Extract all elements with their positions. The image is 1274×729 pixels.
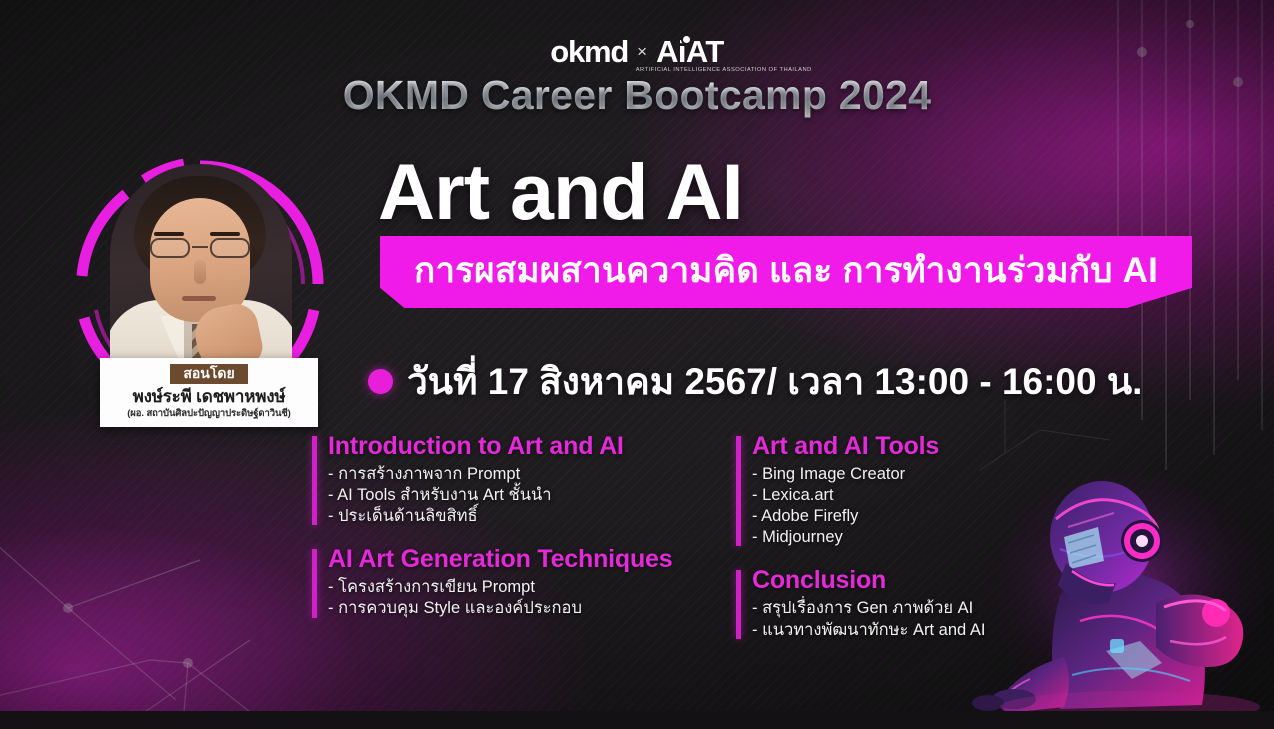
promo-banner: okmd × AiAT ARTIFICIAL INTELLIGENCE ASSO… bbox=[0, 0, 1274, 729]
section-accent-bar bbox=[312, 549, 317, 617]
logo-separator-icon: × bbox=[637, 42, 647, 62]
section-accent-bar bbox=[736, 436, 741, 546]
bullet-dot-icon bbox=[368, 369, 393, 394]
speaker-block: สอนโดย พงษ์ระพี เดชพาหพงษ์ (ผอ. สถาบันศิ… bbox=[62, 150, 337, 412]
topics-column-left: Introduction to Art and AI - การสร้างภาพ… bbox=[312, 432, 732, 620]
hero-title: Art and AI bbox=[378, 152, 743, 231]
okmd-logo: okmd bbox=[550, 36, 628, 67]
brand-logo-row: okmd × AiAT ARTIFICIAL INTELLIGENCE ASSO… bbox=[0, 36, 1274, 67]
speaker-badge: สอนโดย bbox=[170, 364, 247, 384]
list-item: - ประเด็นด้านลิขสิทธิ์ bbox=[328, 506, 732, 527]
event-title: OKMD Career Bootcamp 2024 bbox=[0, 72, 1274, 119]
hero-subtitle-banner: การผสมผสานความคิด และ การทำงานร่วมกับ AI bbox=[380, 236, 1192, 308]
robot-illustration bbox=[960, 445, 1274, 715]
list-item: - การควบคุม Style และองค์ประกอบ bbox=[328, 598, 732, 619]
section-list: - โครงสร้างการเขียน Prompt - การควบคุม S… bbox=[328, 577, 732, 619]
topic-section: Introduction to Art and AI - การสร้างภาพ… bbox=[312, 432, 732, 527]
hero-subtitle-text: การผสมผสานความคิด และ การทำงานร่วมกับ AI bbox=[414, 253, 1158, 292]
section-title: AI Art Generation Techniques bbox=[328, 545, 732, 573]
speaker-name-card: สอนโดย พงษ์ระพี เดชพาหพงษ์ (ผอ. สถาบันศิ… bbox=[100, 358, 318, 427]
event-date-text: วันที่ 17 สิงหาคม 2567/ เวลา 13:00 - 16:… bbox=[407, 352, 1142, 411]
section-accent-bar bbox=[736, 570, 741, 638]
aiat-logo-wrap: AiAT ARTIFICIAL INTELLIGENCE ASSOCIATION… bbox=[656, 36, 724, 67]
bottom-bar bbox=[0, 711, 1274, 729]
speaker-name: พงษ์ระพี เดชพาหพงษ์ bbox=[108, 387, 310, 407]
section-list: - การสร้างภาพจาก Prompt - AI Tools สำหรั… bbox=[328, 464, 732, 527]
list-item: - โครงสร้างการเขียน Prompt bbox=[328, 577, 732, 598]
event-date-row: วันที่ 17 สิงหาคม 2567/ เวลา 13:00 - 16:… bbox=[368, 352, 1142, 411]
section-accent-bar bbox=[312, 436, 317, 525]
speaker-role: (ผอ. สถาบันศิลปะปัญญาประดิษฐ์ดาวินชี) bbox=[108, 408, 310, 420]
topic-section: AI Art Generation Techniques - โครงสร้าง… bbox=[312, 545, 732, 619]
list-item: - การสร้างภาพจาก Prompt bbox=[328, 464, 732, 485]
list-item: - AI Tools สำหรับงาน Art ชั้นนำ bbox=[328, 485, 732, 506]
section-title: Introduction to Art and AI bbox=[328, 432, 732, 460]
